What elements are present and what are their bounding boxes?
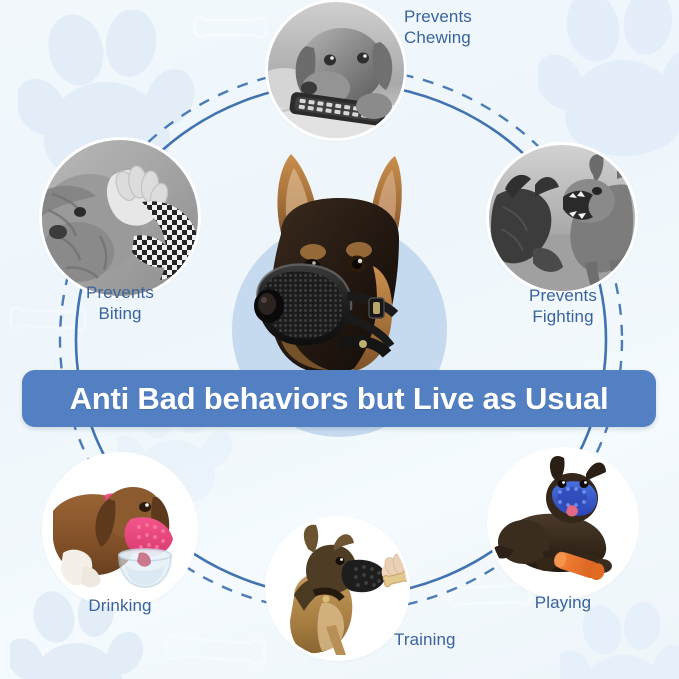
feature-caption-training: Training (394, 629, 504, 650)
feature-caption-chewing: Prevents Chewing (404, 6, 534, 48)
product-infographic-poster: Prevents Chewing (0, 0, 679, 679)
feature-caption-biting: Prevents Biting (34, 282, 206, 324)
paw-print-watermark-top-right (538, 0, 679, 160)
photo-shepherd-training-treat (268, 519, 407, 658)
bone-watermark-top-center (193, 8, 271, 48)
photo-puppy-chewing-remote (268, 2, 404, 138)
photo-two-dogs-fighting (489, 145, 635, 291)
photo-dog-biting-hand (42, 140, 198, 296)
feature-caption-playing: Playing (490, 592, 636, 613)
photo-malinois-playing-toy (490, 450, 636, 596)
feature-caption-fighting: Prevents Fighting (490, 285, 636, 327)
feature-caption-drinking: Drinking (45, 595, 195, 616)
center-product-photo-shepherd-with-muzzle (243, 148, 439, 380)
photo-beagle-drinking (45, 455, 195, 605)
headline-banner: Anti Bad behaviors but Live as Usual (22, 370, 656, 427)
bone-watermark-bottom-center (162, 628, 272, 674)
headline-text: Anti Bad behaviors but Live as Usual (70, 381, 609, 417)
